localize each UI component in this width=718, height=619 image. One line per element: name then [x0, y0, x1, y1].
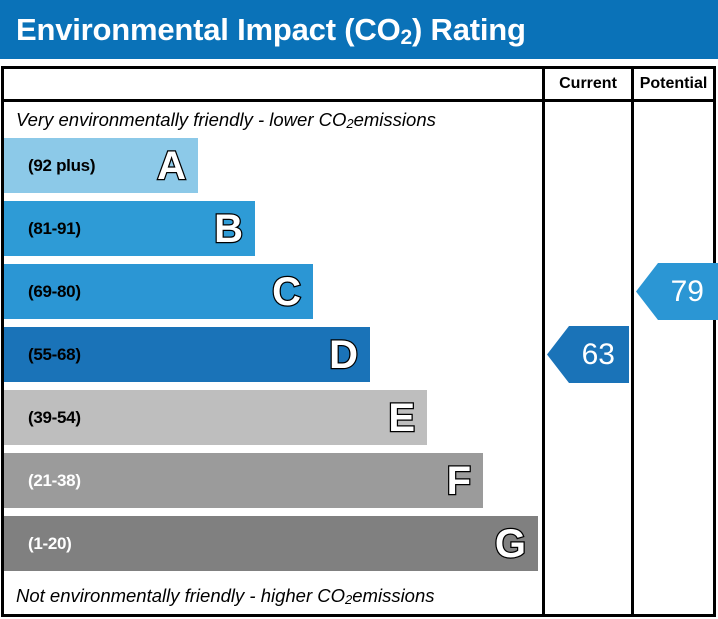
band-range-label-a: (92 plus): [28, 156, 95, 176]
note-top-suffix: emissions: [354, 109, 436, 131]
band-bar-f: (21-38)F: [4, 453, 483, 508]
page-title: Environmental Impact (CO2) Rating: [0, 14, 526, 45]
page-title-suffix: ) Rating: [412, 12, 526, 47]
band-bar-e: (39-54)E: [4, 390, 427, 445]
page-title-subscript: 2: [401, 26, 412, 49]
note-top: Very environmentally friendly - lower CO…: [16, 104, 536, 136]
current-rating-value: 63: [582, 340, 615, 370]
band-range-label-f: (21-38): [28, 471, 81, 491]
band-letter-f: F: [447, 461, 471, 501]
band-letter-e: E: [388, 398, 415, 438]
band-letter-b: B: [214, 209, 243, 249]
note-bottom-prefix: Not environmentally friendly - higher CO: [16, 585, 345, 607]
band-range-label-c: (69-80): [28, 282, 81, 302]
column-divider-current: [542, 69, 545, 614]
band-letter-c: C: [272, 272, 301, 312]
note-bottom-subscript: 2: [345, 592, 352, 607]
potential-rating-arrow: 79: [636, 263, 718, 320]
note-bottom: Not environmentally friendly - higher CO…: [16, 580, 536, 612]
band-bar-a: (92 plus)A: [4, 138, 198, 193]
note-top-subscript: 2: [346, 116, 353, 131]
band-chart-area: Very environmentally friendly - lower CO…: [4, 102, 539, 614]
current-rating-arrow: 63: [547, 326, 629, 383]
chart-title-bar: Environmental Impact (CO2) Rating: [0, 0, 718, 59]
band-range-label-g: (1-20): [28, 534, 72, 554]
potential-rating-value: 79: [671, 277, 704, 307]
band-letter-d: D: [329, 335, 358, 375]
ratings-table: Current Potential Very environmentally f…: [1, 66, 716, 617]
band-range-label-b: (81-91): [28, 219, 81, 239]
table-header-row: Current Potential: [4, 69, 713, 102]
column-header-current: Current: [545, 69, 631, 99]
band-bar-d: (55-68)D: [4, 327, 370, 382]
band-bar-g: (1-20)G: [4, 516, 538, 571]
note-bottom-suffix: emissions: [352, 585, 434, 607]
band-letter-g: G: [495, 524, 526, 564]
column-header-potential: Potential: [634, 69, 713, 99]
band-letter-a: A: [157, 146, 186, 186]
epc-environmental-impact-chart: Environmental Impact (CO2) Rating Curren…: [0, 0, 718, 619]
band-bar-c: (69-80)C: [4, 264, 313, 319]
column-divider-potential: [631, 69, 634, 614]
band-range-label-e: (39-54): [28, 408, 81, 428]
page-title-prefix: Environmental Impact (CO: [16, 12, 401, 47]
band-bar-b: (81-91)B: [4, 201, 255, 256]
band-range-label-d: (55-68): [28, 345, 81, 365]
note-top-prefix: Very environmentally friendly - lower CO: [16, 109, 346, 131]
